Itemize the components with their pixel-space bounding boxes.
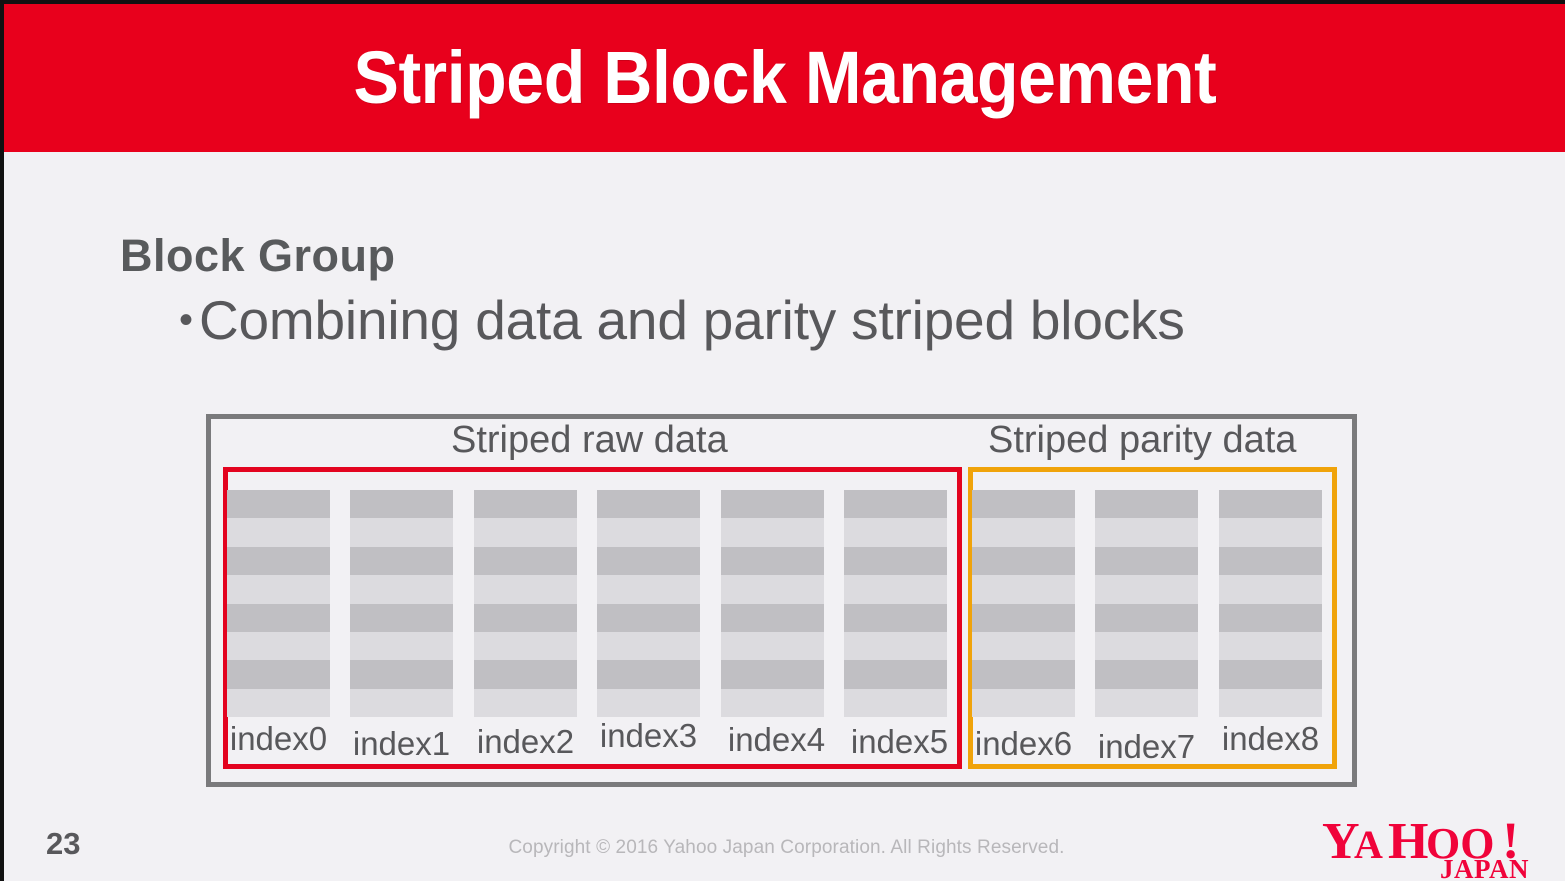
striped-block-cell <box>350 604 453 632</box>
striped-block-column-index6 <box>972 490 1075 717</box>
striped-block-cell <box>844 575 947 603</box>
striped-block-cell <box>1095 518 1198 546</box>
striped-block-cell <box>844 689 947 717</box>
parity-data-region-label: Striped parity data <box>988 419 1296 462</box>
section-heading: Block Group <box>120 230 396 282</box>
striped-block-cell <box>721 490 824 518</box>
striped-block-cell <box>721 518 824 546</box>
striped-block-cell <box>474 490 577 518</box>
striped-block-cell <box>1219 660 1322 688</box>
bullet-dot-icon: • <box>179 300 193 340</box>
striped-block-column-index2 <box>474 490 577 717</box>
striped-block-cell <box>721 575 824 603</box>
striped-block-cell <box>227 660 330 688</box>
striped-block-cell <box>844 632 947 660</box>
striped-block-cell <box>721 547 824 575</box>
striped-block-cell <box>1095 490 1198 518</box>
striped-block-cell <box>1219 490 1322 518</box>
striped-block-cell <box>844 604 947 632</box>
striped-block-cell <box>972 490 1075 518</box>
striped-block-cell <box>350 632 453 660</box>
striped-block-cell <box>227 490 330 518</box>
slide-title-banner: Striped Block Management <box>4 4 1565 152</box>
striped-block-cell <box>474 575 577 603</box>
striped-block-cell <box>972 575 1075 603</box>
striped-block-cell <box>227 547 330 575</box>
striped-block-cell <box>972 547 1075 575</box>
striped-block-cell <box>597 490 700 518</box>
striped-block-cell <box>350 660 453 688</box>
svg-text:JAPAN: JAPAN <box>1440 854 1529 880</box>
striped-block-cell <box>474 660 577 688</box>
striped-block-cell <box>597 547 700 575</box>
svg-text:A: A <box>1354 822 1383 867</box>
column-index-label-index5: index5 <box>848 723 951 761</box>
striped-block-cell <box>597 518 700 546</box>
striped-block-cell <box>844 490 947 518</box>
svg-text:H: H <box>1388 814 1428 870</box>
striped-block-cell <box>972 660 1075 688</box>
striped-block-cell <box>227 575 330 603</box>
striped-block-cell <box>1095 604 1198 632</box>
striped-block-column-index1 <box>350 490 453 717</box>
bullet-item: • Combining data and parity striped bloc… <box>179 290 1185 351</box>
striped-block-cell <box>972 689 1075 717</box>
striped-block-cell <box>721 632 824 660</box>
striped-block-cell <box>721 660 824 688</box>
column-index-label-index6: index6 <box>972 725 1075 763</box>
striped-block-column-index4 <box>721 490 824 717</box>
column-index-label-index4: index4 <box>725 721 828 759</box>
striped-block-cell <box>1219 547 1322 575</box>
column-index-label-index1: index1 <box>350 725 453 763</box>
striped-block-cell <box>721 689 824 717</box>
striped-block-cell <box>474 632 577 660</box>
striped-block-cell <box>972 518 1075 546</box>
slide-canvas: Striped Block Management Block Group • C… <box>0 0 1565 881</box>
striped-block-cell <box>227 689 330 717</box>
striped-block-cell <box>972 632 1075 660</box>
striped-block-cell <box>1095 575 1198 603</box>
striped-block-cell <box>350 490 453 518</box>
striped-block-cell <box>1219 604 1322 632</box>
striped-block-cell <box>1219 632 1322 660</box>
slide-title: Striped Block Management <box>353 41 1216 115</box>
column-index-label-index8: index8 <box>1219 720 1322 758</box>
striped-block-cell <box>972 604 1075 632</box>
column-index-label-index2: index2 <box>474 723 577 761</box>
striped-block-cell <box>597 632 700 660</box>
striped-block-cell <box>350 575 453 603</box>
striped-block-cell <box>597 575 700 603</box>
column-index-label-index0: index0 <box>227 720 330 758</box>
striped-block-cell <box>721 604 824 632</box>
column-index-label-index7: index7 <box>1095 728 1198 766</box>
striped-block-cell <box>1095 632 1198 660</box>
striped-block-cell <box>844 547 947 575</box>
striped-block-cell <box>844 518 947 546</box>
striped-block-cell <box>1219 518 1322 546</box>
striped-block-cell <box>597 689 700 717</box>
column-index-label-index3: index3 <box>597 717 700 755</box>
striped-block-cell <box>597 604 700 632</box>
striped-block-column-index7 <box>1095 490 1198 717</box>
striped-block-cell <box>227 518 330 546</box>
striped-block-cell <box>597 660 700 688</box>
striped-block-cell <box>844 660 947 688</box>
bullet-item-label: Combining data and parity striped blocks <box>199 290 1185 351</box>
raw-data-region-label: Striped raw data <box>451 419 728 462</box>
striped-block-cell <box>227 604 330 632</box>
striped-block-cell <box>350 689 453 717</box>
striped-block-cell <box>474 518 577 546</box>
striped-block-cell <box>1095 547 1198 575</box>
striped-block-cell <box>227 632 330 660</box>
striped-block-cell <box>1095 660 1198 688</box>
yahoo-japan-logo: Y A H OO ! JAPAN <box>1322 814 1552 880</box>
striped-block-column-index0 <box>227 490 330 717</box>
striped-block-column-index3 <box>597 490 700 717</box>
striped-block-column-index8 <box>1219 490 1322 717</box>
striped-block-cell <box>474 604 577 632</box>
striped-block-cell <box>350 547 453 575</box>
striped-block-column-index5 <box>844 490 947 717</box>
striped-block-cell <box>474 689 577 717</box>
striped-block-cell <box>474 547 577 575</box>
striped-block-cell <box>1219 689 1322 717</box>
striped-block-cell <box>1095 689 1198 717</box>
striped-block-cell <box>1219 575 1322 603</box>
striped-block-cell <box>350 518 453 546</box>
